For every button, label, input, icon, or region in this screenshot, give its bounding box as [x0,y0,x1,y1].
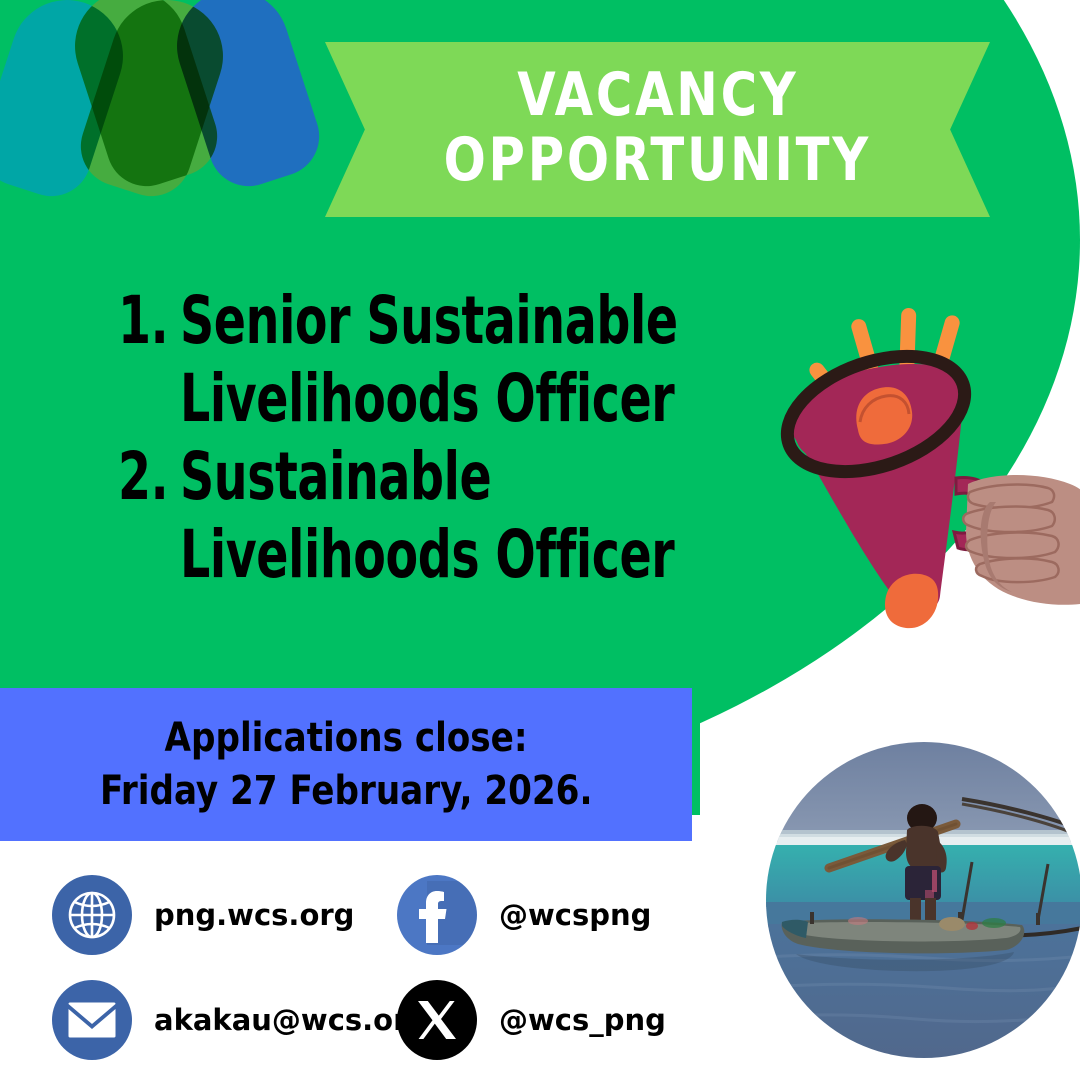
megaphone-illustration [740,296,1080,656]
job-title: Senior Sustainable Livelihoods Officer [180,282,762,438]
contact-facebook[interactable]: @wcspng [397,875,742,955]
contact-x[interactable]: @wcs_png [397,980,742,1060]
poster-canvas: VACANCY OPPORTUNITY 1. Senior Sustainabl… [0,0,1080,1080]
contact-website[interactable]: png.wcs.org [52,875,397,955]
contact-value: akakau@wcs.org [154,1003,428,1037]
ribbon-title-line-1: VACANCY [517,63,798,128]
wcs-logo [0,0,330,234]
job-title: Sustainable Livelihoods Officer [180,438,762,594]
contact-email[interactable]: akakau@wcs.org [52,980,397,1060]
ribbon-title-line-2: OPPORTUNITY [444,128,871,193]
contact-value: @wcs_png [499,1003,666,1037]
contact-value: png.wcs.org [154,898,354,932]
job-number: 1. [118,282,168,360]
deadline-label: Applications close: [165,712,528,765]
contact-grid: png.wcs.org @wcspng akakau@wcs.org [52,862,772,1072]
vacancy-ribbon-banner: VACANCY OPPORTUNITY [325,42,990,217]
fisherman-photo [766,742,1080,1058]
x-twitter-icon [397,980,477,1060]
globe-icon [52,875,132,955]
deadline-date: Friday 27 February, 2026. [100,765,593,818]
deadline-box: Applications close: Friday 27 February, … [0,688,692,841]
contact-value: @wcspng [499,898,651,932]
facebook-icon [397,875,477,955]
envelope-icon [52,980,132,1060]
hand-icon [963,475,1080,605]
job-number: 2. [118,438,168,516]
